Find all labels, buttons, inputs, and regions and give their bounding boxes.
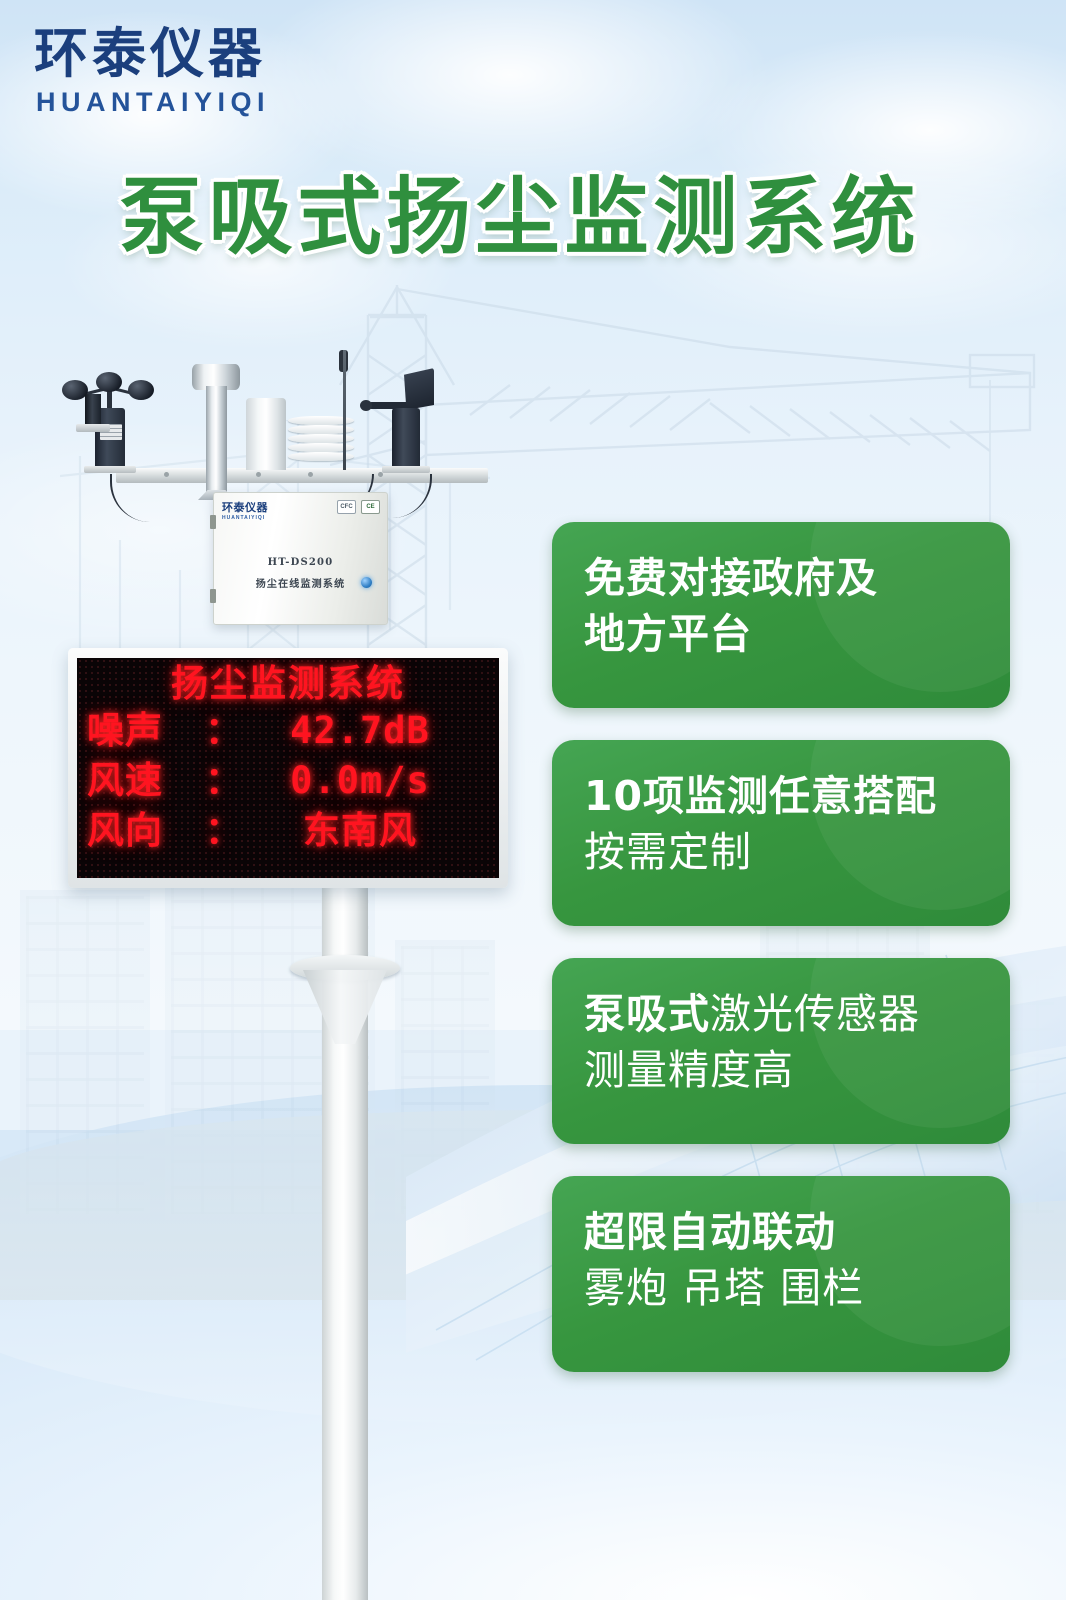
led-value-winddirection: 东南风 — [231, 806, 489, 856]
cabinet-logo-en: HUANTAIYIQI — [222, 515, 268, 521]
cabinet-hinge — [210, 515, 216, 529]
anemometer-mount-plate — [84, 466, 136, 473]
controller-cabinet: 环泰仪器 HUANTAIYIQI CFC CE HT-DS200 扬尘在线监测系… — [213, 492, 388, 625]
shield-sensor-stem — [85, 394, 101, 426]
cabinet-logo: 环泰仪器 HUANTAIYIQI — [222, 499, 268, 521]
brand-name-cn: 环泰仪器 — [34, 26, 270, 83]
pm-inlet-tube — [206, 386, 227, 494]
status-led-icon — [361, 577, 372, 588]
feature-3-line2: 测量精度高 — [584, 1042, 1010, 1098]
rain-gauge — [246, 398, 286, 470]
wind-vane-nose — [360, 400, 372, 411]
brand-name-en: HUANTAIYIQI — [36, 87, 270, 118]
led-colon: ： — [205, 706, 231, 756]
led-screen: 扬尘监测系统 噪声 ： 42.7dB 风速 ： 0.0m/s 风向 ： — [77, 658, 499, 878]
led-header: 扬尘监测系统 — [87, 662, 489, 706]
arm-bolt — [256, 472, 261, 477]
anemometer-cup — [128, 380, 154, 400]
led-colon: ： — [205, 806, 231, 856]
led-display-board: 扬尘监测系统 噪声 ： 42.7dB 风速 ： 0.0m/s 风向 ： — [68, 648, 508, 888]
antenna — [343, 350, 346, 470]
cabinet-logo-cn: 环泰仪器 — [222, 499, 268, 515]
certification-badges: CFC CE — [337, 500, 380, 514]
led-label-noise: 噪声 — [87, 706, 205, 756]
led-value-noise: 42.7dB — [231, 706, 489, 756]
feature-3-regular: 激光传感器 — [710, 990, 920, 1038]
feature-4-line1: 超限自动联动 — [584, 1204, 1010, 1260]
feature-3-line1: 泵吸式激光传感器 — [584, 986, 1010, 1042]
wind-vane-fin — [404, 368, 434, 410]
cfc-badge: CFC — [337, 500, 356, 514]
feature-card-4[interactable]: 超限自动联动 雾炮 吊塔 围栏 — [552, 1176, 1010, 1372]
cabinet-hinge — [210, 589, 216, 603]
feature-card-1[interactable]: 免费对接政府及 地方平台 — [552, 522, 1010, 708]
led-colon: ： — [205, 756, 231, 806]
led-row-winddirection: 风向 ： 东南风 — [87, 806, 489, 856]
led-row-noise: 噪声 ： 42.7dB — [87, 706, 489, 756]
page-title: 泵吸式扬尘监测系统 — [0, 150, 1040, 271]
shield-mount-plate — [76, 424, 110, 432]
led-row-windspeed: 风速 ： 0.0m/s — [87, 756, 489, 806]
sensor-cable — [110, 474, 200, 522]
feature-2-line1: 10项监测任意搭配 — [584, 768, 1010, 824]
led-label-windspeed: 风速 — [87, 756, 205, 806]
sensor-cable — [388, 474, 432, 518]
cabinet-model: HT-DS200 — [214, 557, 387, 568]
feature-4-line2: 雾炮 吊塔 围栏 — [584, 1260, 1010, 1316]
feature-1-line2: 地方平台 — [584, 606, 1010, 662]
product-poster: 环泰仪器 HUANTAIYIQI 泵吸式扬尘监测系统 — [0, 0, 1066, 1600]
feature-card-3[interactable]: 泵吸式激光传感器 测量精度高 — [552, 958, 1010, 1144]
mounting-brace — [303, 970, 387, 1044]
wind-vane-body — [392, 408, 420, 470]
feature-2-line2: 按需定制 — [584, 824, 1010, 880]
feature-1-line1: 免费对接政府及 — [584, 550, 1010, 606]
feature-card-2[interactable]: 10项监测任意搭配 按需定制 — [552, 740, 1010, 926]
ce-badge: CE — [361, 500, 380, 514]
wind-vane-mount-plate — [382, 466, 430, 473]
led-label-winddirection: 风向 — [87, 806, 205, 856]
led-value-windspeed: 0.0m/s — [231, 756, 489, 806]
led-content: 扬尘监测系统 噪声 ： 42.7dB 风速 ： 0.0m/s 风向 ： — [77, 658, 499, 878]
anemometer-cup — [96, 372, 122, 392]
feature-3-bold: 泵吸式 — [584, 990, 710, 1038]
dust-monitoring-station: 环泰仪器 HUANTAIYIQI CFC CE HT-DS200 扬尘在线监测系… — [60, 350, 530, 1560]
feature-card-list: 免费对接政府及 地方平台 10项监测任意搭配 按需定制 泵吸式激光传感器 测量精… — [552, 522, 1010, 1404]
brand-logo: 环泰仪器 HUANTAIYIQI — [34, 26, 270, 118]
